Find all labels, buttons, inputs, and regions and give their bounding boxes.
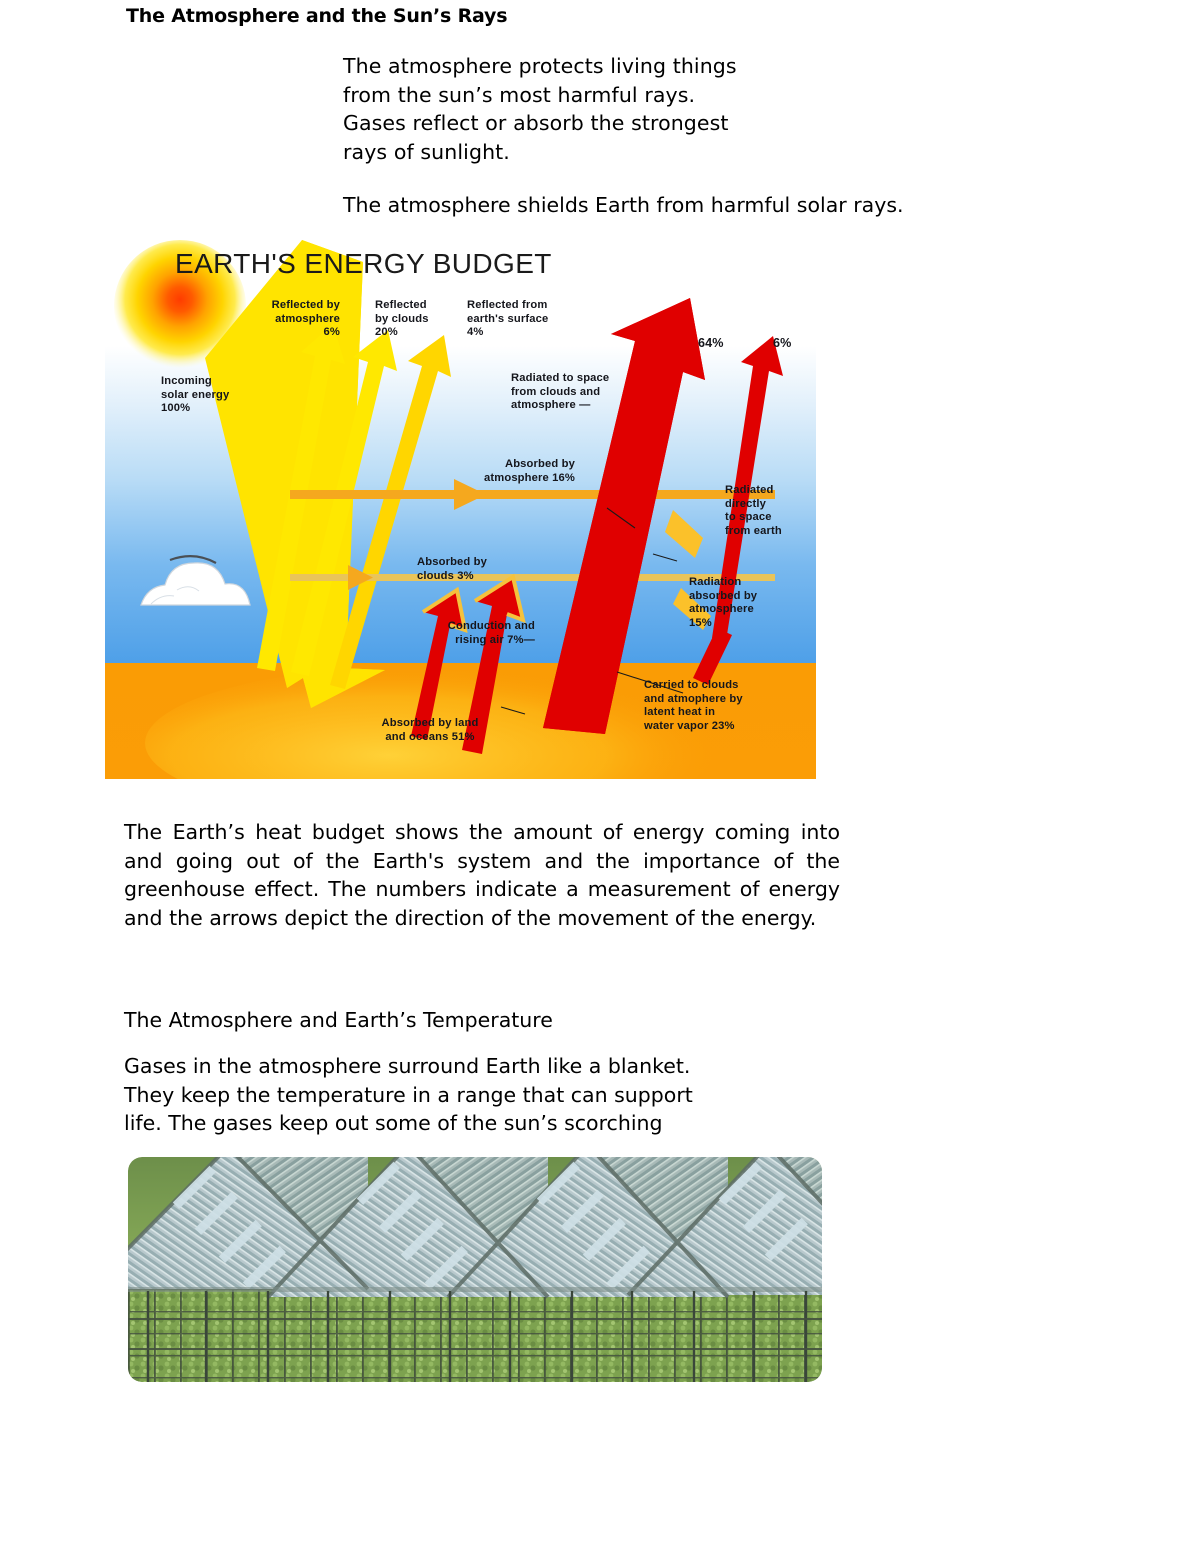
intro-line-1: The atmosphere protects living things bbox=[343, 52, 1043, 81]
label-out-6-percent: 6% bbox=[773, 337, 792, 351]
label-reflected-by-atmosphere: Reflected by atmosphere 6% bbox=[250, 299, 340, 340]
temperature-paragraph: Gases in the atmosphere surround Earth l… bbox=[124, 1052, 846, 1138]
intro-line-2: from the sun’s most harmful rays. bbox=[343, 81, 1043, 110]
subsection-title: The Atmosphere and Earth’s Temperature bbox=[124, 1008, 553, 1032]
temperature-line-2: They keep the temperature in a range tha… bbox=[124, 1081, 846, 1110]
temperature-line-1: Gases in the atmosphere surround Earth l… bbox=[124, 1052, 846, 1081]
label-radiated-to-space-from-clouds: Radiated to space from clouds and atmosp… bbox=[511, 372, 609, 413]
greenhouse-roof-panels bbox=[128, 1157, 822, 1297]
heat-budget-paragraph: The Earth’s heat budget shows the amount… bbox=[124, 818, 840, 932]
label-reflected-by-clouds: Reflected by clouds 20% bbox=[375, 299, 429, 340]
label-absorbed-by-atmosphere: Absorbed by atmosphere 16% bbox=[420, 458, 575, 485]
label-absorbed-by-clouds: Absorbed by clouds 3% bbox=[417, 556, 487, 583]
intro-line-4: rays of sunlight. bbox=[343, 138, 1043, 167]
intro-paragraph: The atmosphere protects living things fr… bbox=[343, 52, 1043, 166]
greenhouse-photo bbox=[128, 1157, 822, 1382]
label-radiation-absorbed-by-atmosphere: Radiation absorbed by atmosphere 15% bbox=[689, 576, 757, 630]
shield-statement: The atmosphere shields Earth from harmfu… bbox=[343, 191, 904, 219]
label-incoming-solar: Incoming solar energy 100% bbox=[161, 375, 229, 416]
temperature-line-3: life. The gases keep out some of the sun… bbox=[124, 1109, 846, 1138]
figure-title: EARTH'S ENERGY BUDGET bbox=[175, 248, 552, 280]
label-radiated-directly-to-space: Radiated directly to space from earth bbox=[725, 484, 782, 538]
label-conduction-rising-air: Conduction and rising air 7%— bbox=[395, 620, 535, 647]
label-out-64-percent: 64% bbox=[698, 337, 724, 351]
intro-line-3: Gases reflect or absorb the strongest bbox=[343, 109, 1043, 138]
label-absorbed-by-land: Absorbed by land and oceans 51% bbox=[355, 717, 505, 744]
label-reflected-from-surface: Reflected from earth's surface 4% bbox=[467, 299, 548, 340]
page-title: The Atmosphere and the Sun’s Rays bbox=[126, 5, 507, 27]
label-carried-to-clouds-latent-heat: Carried to clouds and atmophere by laten… bbox=[644, 679, 743, 733]
